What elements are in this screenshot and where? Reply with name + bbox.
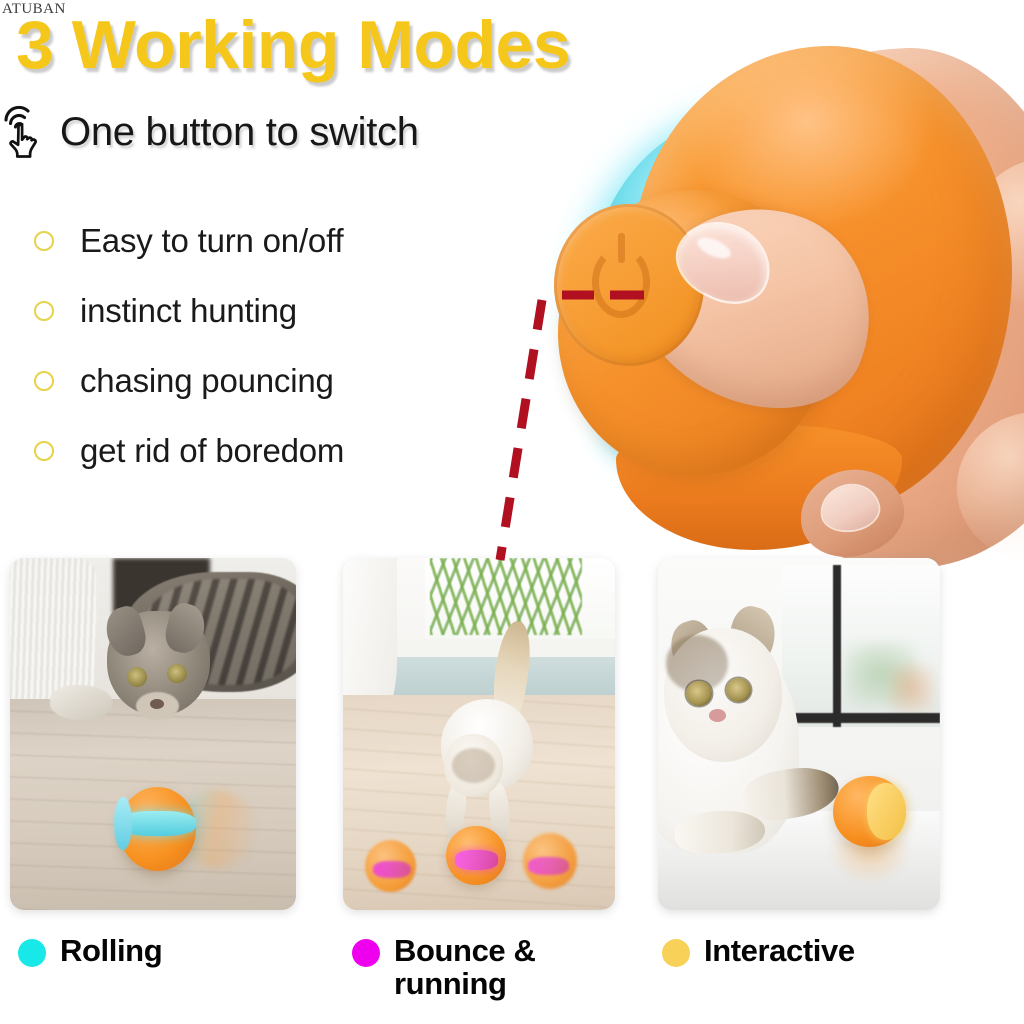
brand-watermark: ATUBAN: [2, 1, 66, 18]
photo-bounce-running-content: [343, 558, 615, 910]
legend-label: Bounce & running: [394, 934, 535, 1001]
legend-dot-icon: [352, 939, 380, 967]
feature-list: Easy to turn on/off instinct hunting cha…: [34, 206, 344, 486]
legend-item-interactive: Interactive: [662, 934, 855, 967]
subtitle-row: One button to switch: [2, 104, 419, 160]
photo-interactive-content: [658, 558, 940, 910]
legend-item-bounce-running: Bounce & running: [352, 934, 535, 1001]
tap-hand-icon: [0, 104, 50, 160]
feature-label: instinct hunting: [80, 292, 297, 330]
legend-item-rolling: Rolling: [18, 934, 162, 967]
list-item: chasing pouncing: [34, 346, 344, 416]
legend-label: Rolling: [60, 934, 162, 967]
feature-label: Easy to turn on/off: [80, 222, 343, 260]
photo-rolling-content: [10, 558, 296, 910]
feature-label: chasing pouncing: [80, 362, 334, 400]
photo-bounce-running[interactable]: [343, 558, 615, 910]
hero-scene: [500, 40, 1024, 600]
legend-label: Interactive: [704, 934, 855, 967]
photo-rolling[interactable]: [10, 558, 296, 910]
bullet-ring-icon: [34, 301, 54, 321]
bullet-ring-icon: [34, 371, 54, 391]
power-symbol-icon: [592, 246, 650, 318]
list-item: Easy to turn on/off: [34, 206, 344, 276]
page-title: 3 Working Modes: [16, 6, 570, 84]
photo-interactive[interactable]: [658, 558, 940, 910]
page-subtitle: One button to switch: [60, 110, 419, 155]
list-item: get rid of boredom: [34, 416, 344, 486]
mode-legend: Rolling Bounce & running Interactive: [0, 926, 1024, 1024]
bullet-ring-icon: [34, 441, 54, 461]
bullet-ring-icon: [34, 231, 54, 251]
photo-strip: [0, 558, 1024, 914]
hero-product-image: [500, 40, 1024, 600]
feature-label: get rid of boredom: [80, 432, 344, 470]
product-infographic: ATUBAN 3 Working Modes One button to swi…: [0, 0, 1024, 1024]
legend-dot-icon: [18, 939, 46, 967]
legend-dot-icon: [662, 939, 690, 967]
list-item: instinct hunting: [34, 276, 344, 346]
